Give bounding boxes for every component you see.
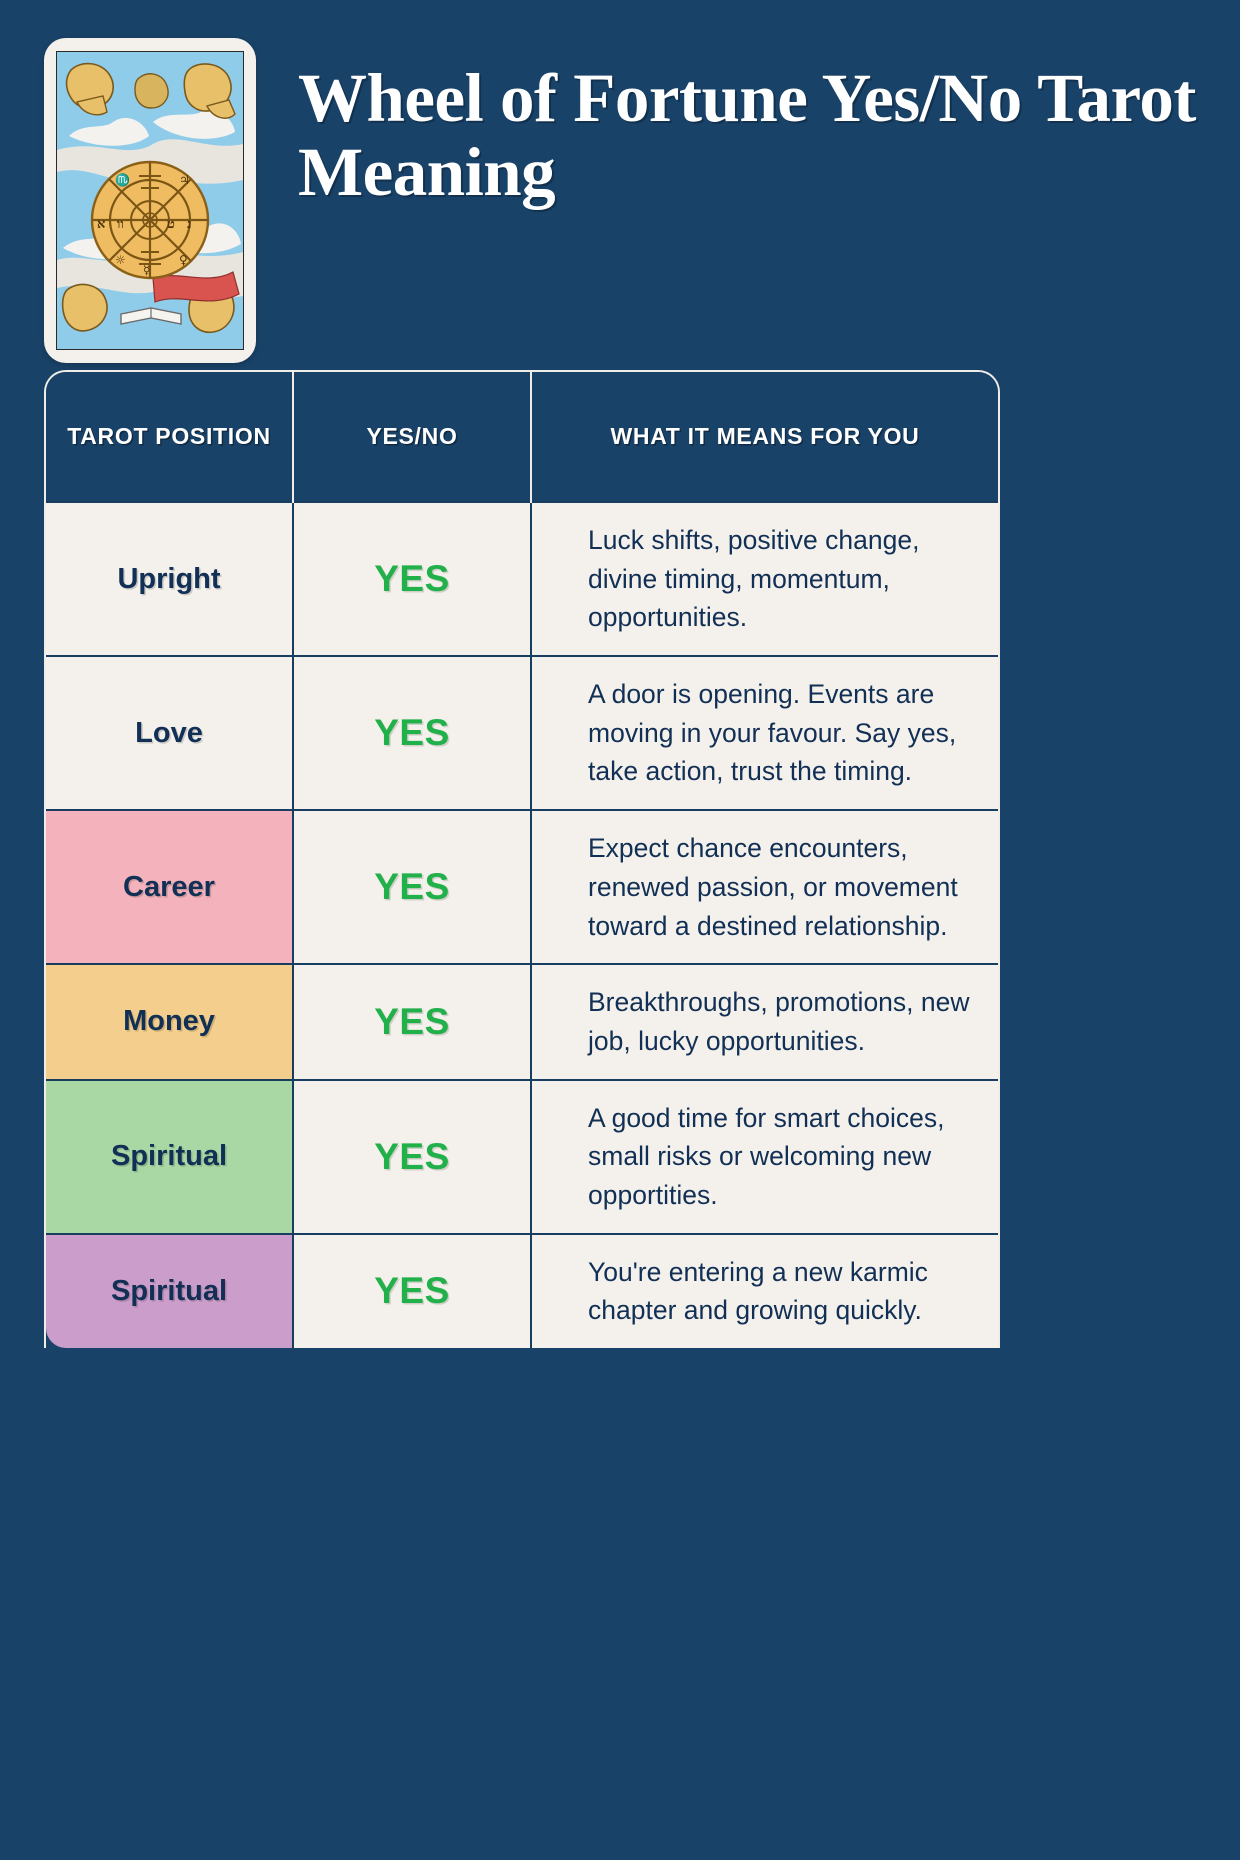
page-title: Wheel of Fortune Yes/No Tarot Meaning <box>298 62 1240 210</box>
cell-tarot-position: Career <box>46 810 293 964</box>
cell-yes-no: YES <box>293 810 531 964</box>
svg-text:☿: ☿ <box>143 263 150 277</box>
table-row: UprightYESLuck shifts, positive change, … <box>46 502 998 656</box>
meaning-table: TAROT POSITION YES/NO WHAT IT MEANS FOR … <box>44 370 1000 1348</box>
table-row: MoneyYESBreakthroughs, promotions, new j… <box>46 964 998 1079</box>
column-header-yes-no: YES/NO <box>293 372 531 502</box>
cell-tarot-position: Upright <box>46 502 293 656</box>
header: א וו ט נ ♏ ♃ ☼ ♀ ☿ Wheel of Fortune Yes/… <box>0 0 1240 370</box>
column-header-meaning: WHAT IT MEANS FOR YOU <box>531 372 998 502</box>
table-header-row: TAROT POSITION YES/NO WHAT IT MEANS FOR … <box>46 372 998 502</box>
cell-meaning: A good time for smart choices, small ris… <box>531 1080 998 1234</box>
cell-yes-no: YES <box>293 1080 531 1234</box>
table-row: LoveYESA door is opening. Events are mov… <box>46 656 998 810</box>
table-row: CareerYESExpect chance encounters, renew… <box>46 810 998 964</box>
cell-yes-no: YES <box>293 656 531 810</box>
svg-text:א: א <box>97 217 105 232</box>
svg-text:☼: ☼ <box>115 253 126 267</box>
cell-meaning: Luck shifts, positive change, divine tim… <box>531 502 998 656</box>
tarot-card-frame: א וו ט נ ♏ ♃ ☼ ♀ ☿ <box>44 38 256 363</box>
wheel-of-fortune-card-icon: א וו ט נ ♏ ♃ ☼ ♀ ☿ <box>56 51 244 350</box>
title-block: Wheel of Fortune Yes/No Tarot Meaning <box>256 38 1240 210</box>
table-row: SpiritualYESYou're entering a new karmic… <box>46 1234 998 1348</box>
svg-text:♀: ♀ <box>179 253 188 267</box>
cell-tarot-position: Spiritual <box>46 1080 293 1234</box>
svg-text:וו: וו <box>117 217 124 232</box>
cell-tarot-position: Money <box>46 964 293 1079</box>
cell-meaning: A door is opening. Events are moving in … <box>531 656 998 810</box>
svg-text:נ: נ <box>187 217 191 232</box>
cell-tarot-position: Love <box>46 656 293 810</box>
table-body: UprightYESLuck shifts, positive change, … <box>46 502 998 1348</box>
column-header-tarot-position: TAROT POSITION <box>46 372 293 502</box>
svg-text:♃: ♃ <box>179 173 190 187</box>
svg-text:♏: ♏ <box>115 173 130 187</box>
cell-meaning: Expect chance encounters, renewed passio… <box>531 810 998 964</box>
cell-yes-no: YES <box>293 502 531 656</box>
cell-meaning: You're entering a new karmic chapter and… <box>531 1234 998 1348</box>
cell-yes-no: YES <box>293 1234 531 1348</box>
cell-yes-no: YES <box>293 964 531 1079</box>
table-row: SpiritualYESA good time for smart choice… <box>46 1080 998 1234</box>
cell-tarot-position: Spiritual <box>46 1234 293 1348</box>
svg-text:ט: ט <box>167 217 175 232</box>
cell-meaning: Breakthroughs, promotions, new job, luck… <box>531 964 998 1079</box>
